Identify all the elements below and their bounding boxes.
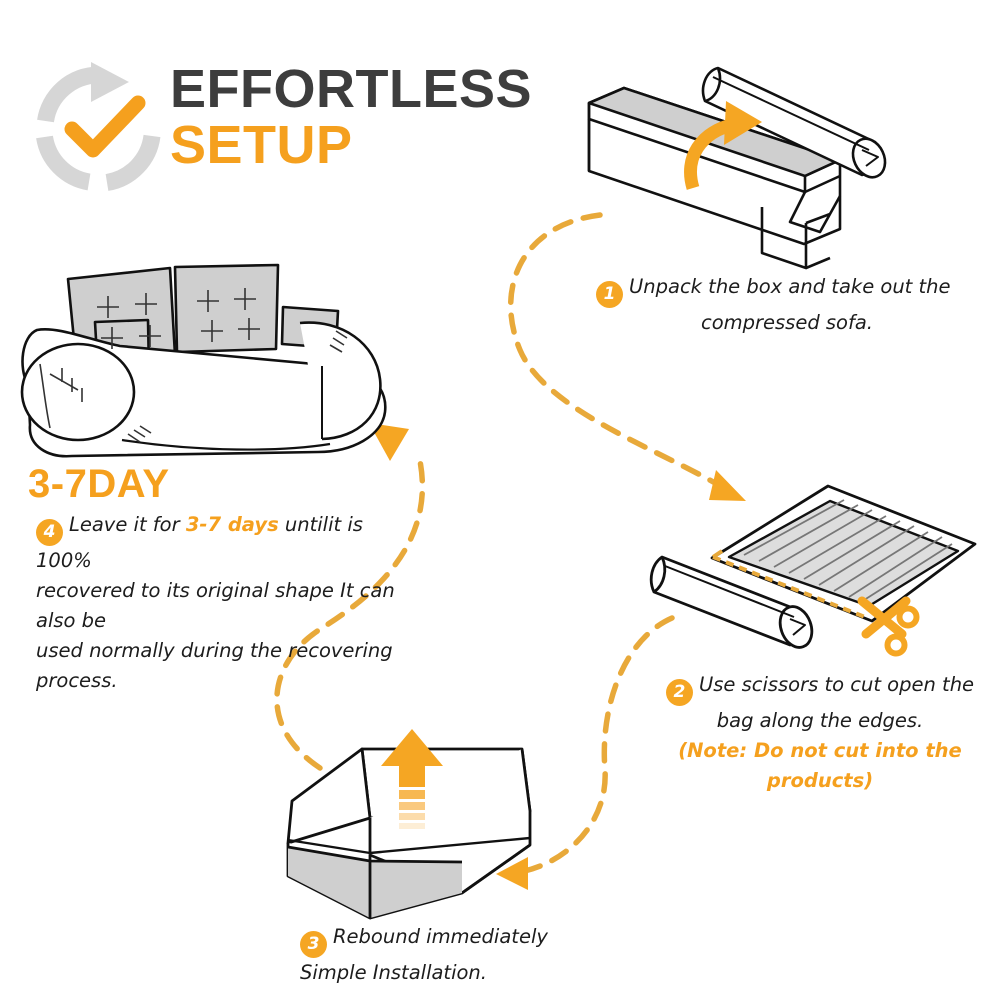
step-2-badge: 2	[666, 679, 693, 706]
sofa-tufting	[97, 288, 260, 349]
flow-arrow-1-to-2	[511, 215, 746, 501]
step-3-text: 3Rebound immediately Simple Installation…	[300, 922, 570, 988]
bag-illustration	[712, 486, 975, 621]
step-3-line2: Simple Installation.	[300, 958, 570, 988]
page-title-sub: SETUP	[170, 117, 550, 173]
step-4-highlight: 3-7 days	[186, 513, 279, 536]
step-4-text: 4Leave it for 3-7 days untilit is 100% r…	[36, 510, 396, 696]
flow-arrow-2-to-3	[496, 618, 672, 890]
compressed-roll-illustration	[703, 68, 891, 182]
scissors-icon	[862, 601, 917, 654]
step-4-badge: 4	[36, 519, 63, 546]
day-heading: 3-7DAY	[28, 462, 170, 507]
step-1-line2: compressed sofa.	[701, 311, 873, 334]
step-3-line1: Rebound immediately	[333, 925, 548, 948]
roll-out-arrow-icon	[691, 101, 762, 188]
sofa-stitches	[40, 331, 347, 442]
page-title-main: EFFORTLESS	[170, 61, 550, 117]
step-1-badge: 1	[596, 281, 623, 308]
bag-ribs	[744, 500, 952, 602]
rolled-bag-illustration	[651, 557, 817, 652]
step-2-text: 2Use scissors to cut open the bag along …	[650, 670, 990, 796]
header-block: EFFORTLESS SETUP	[28, 55, 548, 195]
step-1-line1: Unpack the box and take out the	[629, 275, 951, 298]
step-4-line3: used normally during the recovering proc…	[36, 636, 396, 696]
cut-line-edge	[713, 551, 722, 557]
step-4-line2: recovered to its original shape It can a…	[36, 576, 396, 636]
sofa-illustration	[22, 265, 385, 456]
step-3-badge: 3	[300, 931, 327, 958]
step-2-line2: the edges.	[820, 709, 923, 732]
expand-up-arrow-icon	[381, 729, 443, 829]
refresh-check-icon	[28, 59, 168, 199]
step-1-text: 1Unpack the box and take out the compres…	[596, 272, 978, 338]
cut-line	[713, 557, 865, 617]
slab-illustration	[288, 749, 530, 918]
box-illustration	[589, 88, 840, 268]
infographic-page: EFFORTLESS SETUP	[0, 0, 1000, 1000]
step-4-part1: Leave it for	[69, 513, 186, 536]
step-2-note: (Note: Do not cut into the products)	[650, 736, 990, 796]
title-group: EFFORTLESS SETUP	[170, 61, 550, 173]
